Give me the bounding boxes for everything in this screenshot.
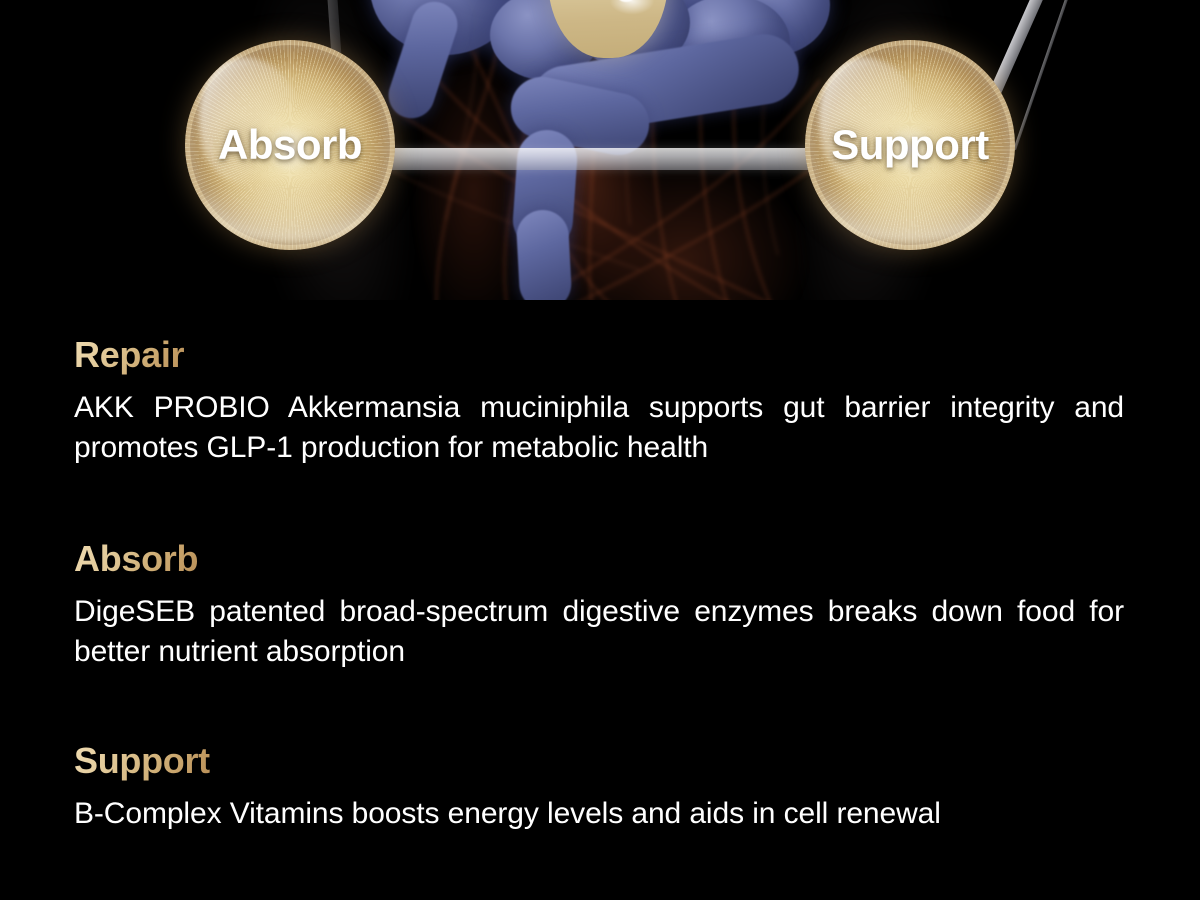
- badge-absorb[interactable]: Absorb: [185, 40, 395, 250]
- benefit-heading-wrap: Support: [74, 740, 1124, 782]
- benefit-body-absorb: DigeSEB patented broad-spectrum digestiv…: [74, 592, 1124, 671]
- benefit-heading-support: Support: [74, 740, 210, 782]
- benefit-heading-wrap: Repair: [74, 334, 1124, 376]
- badge-connector-bar: [330, 148, 875, 170]
- hero-anatomy-illustration: Absorb Support: [0, 0, 1200, 300]
- benefit-heading-repair: Repair: [74, 334, 184, 376]
- benefit-section-repair: Repair AKK PROBIO Akkermansia muciniphil…: [74, 334, 1124, 467]
- product-benefits-panel: Absorb Support Repair AKK PROBIO Akkerma…: [0, 0, 1200, 900]
- benefit-heading-wrap: Absorb: [74, 538, 1124, 580]
- badge-support-label: Support: [831, 121, 988, 169]
- benefit-section-absorb: Absorb DigeSEB patented broad-spectrum d…: [74, 538, 1124, 671]
- benefit-section-support: Support B-Complex Vitamins boosts energy…: [74, 740, 1124, 834]
- badge-support[interactable]: Support: [805, 40, 1015, 250]
- benefit-heading-absorb: Absorb: [74, 538, 198, 580]
- benefit-body-repair: AKK PROBIO Akkermansia muciniphila suppo…: [74, 388, 1124, 467]
- badge-absorb-label: Absorb: [218, 121, 362, 169]
- benefit-body-support: B-Complex Vitamins boosts energy levels …: [74, 794, 1124, 834]
